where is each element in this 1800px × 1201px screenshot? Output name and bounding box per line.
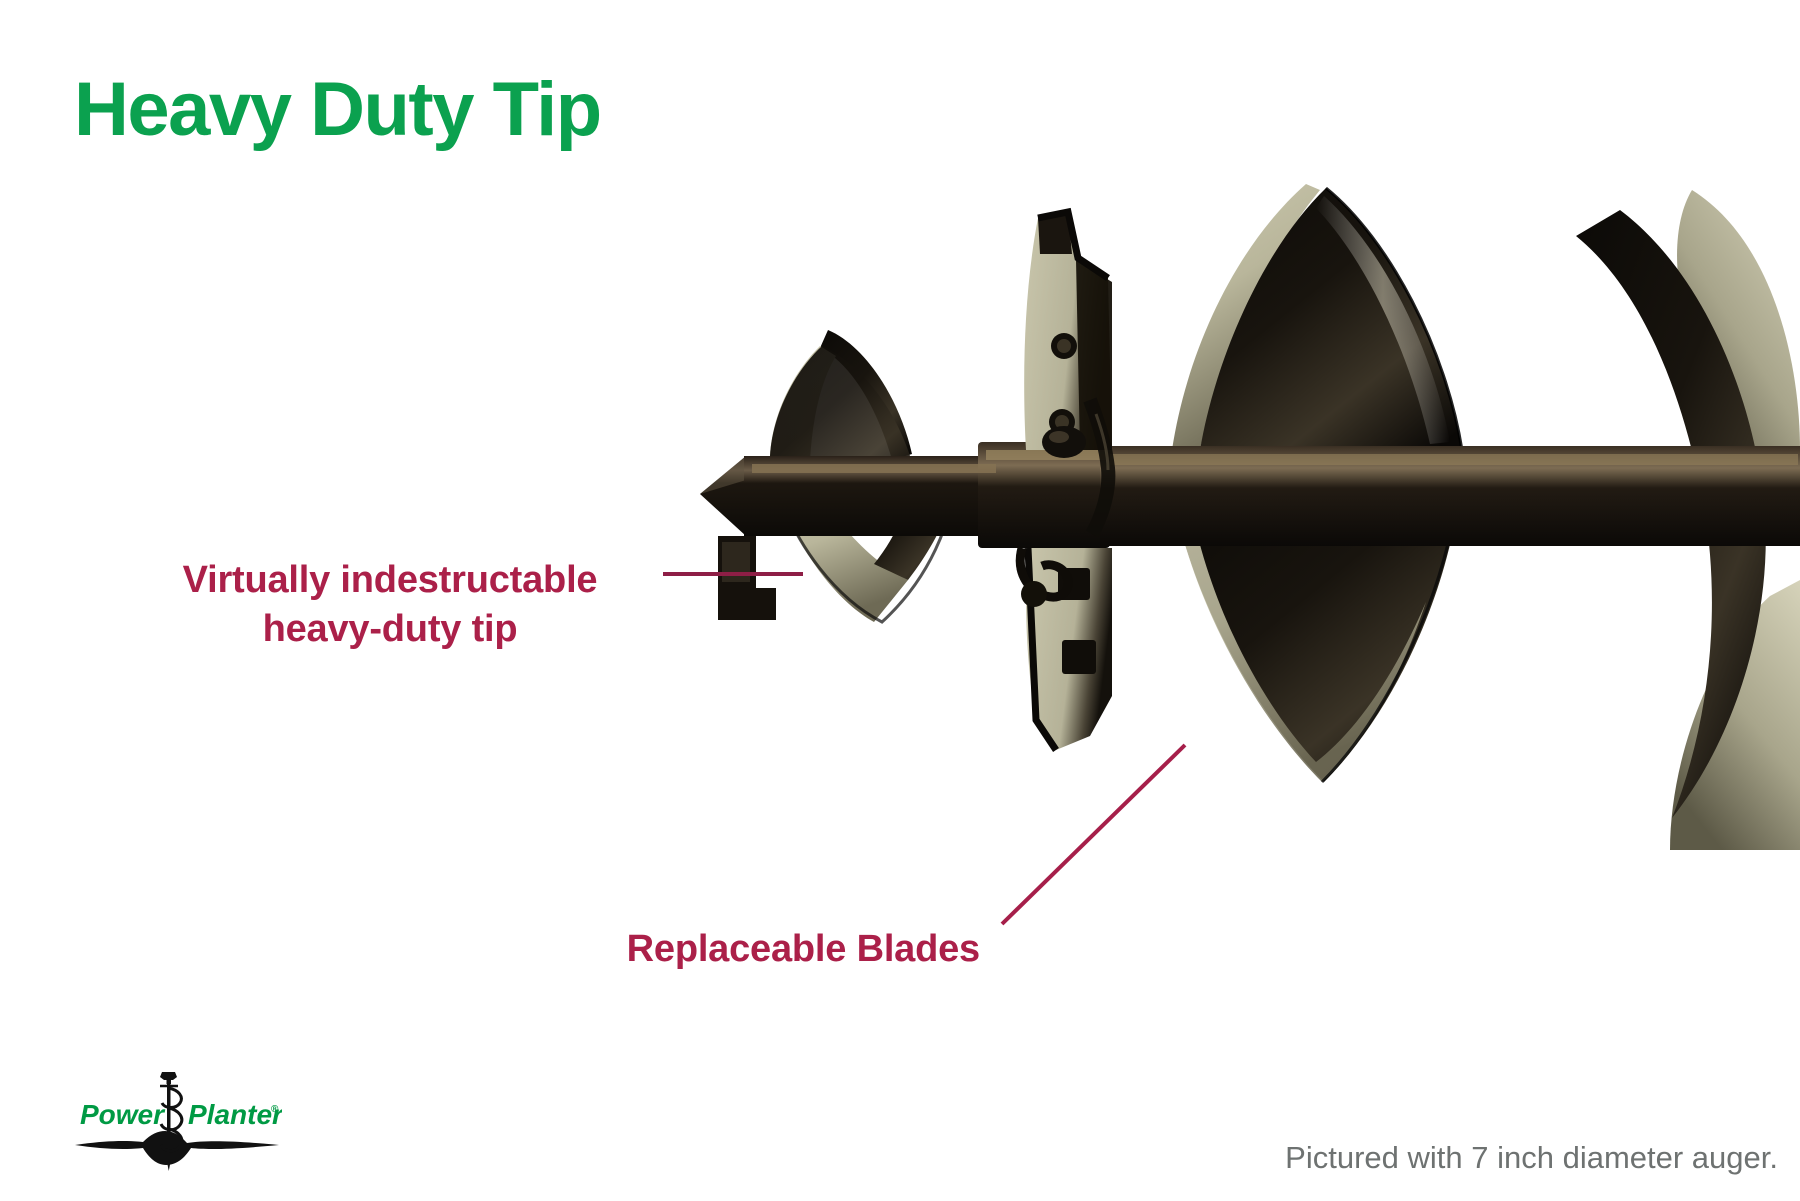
image-caption: Pictured with 7 inch diameter auger.: [1285, 1140, 1778, 1176]
logo-word-planter: Planter: [188, 1099, 282, 1130]
auger-flighting-center: [1172, 184, 1462, 450]
callout-blades-line1: Replaceable Blades: [560, 925, 980, 974]
callout-label-blades: Replaceable Blades: [560, 925, 980, 974]
callout-tip-line1: Virtually indestructable: [110, 556, 670, 605]
auger-shaft: [700, 442, 1800, 548]
slide-canvas: Heavy Duty Tip: [0, 0, 1800, 1201]
auger-tip-spur: [718, 536, 776, 620]
power-planter-logo: Power Planter ®: [72, 1070, 282, 1175]
callout-label-tip: Virtually indestructable heavy-duty tip: [110, 556, 670, 653]
logo-word-power: Power: [80, 1099, 166, 1130]
callout-tip-line2: heavy-duty tip: [110, 605, 670, 654]
heavy-duty-auger-photo: [660, 150, 1800, 850]
logo-registered-mark: ®: [271, 1104, 279, 1115]
page-title: Heavy Duty Tip: [74, 72, 601, 148]
